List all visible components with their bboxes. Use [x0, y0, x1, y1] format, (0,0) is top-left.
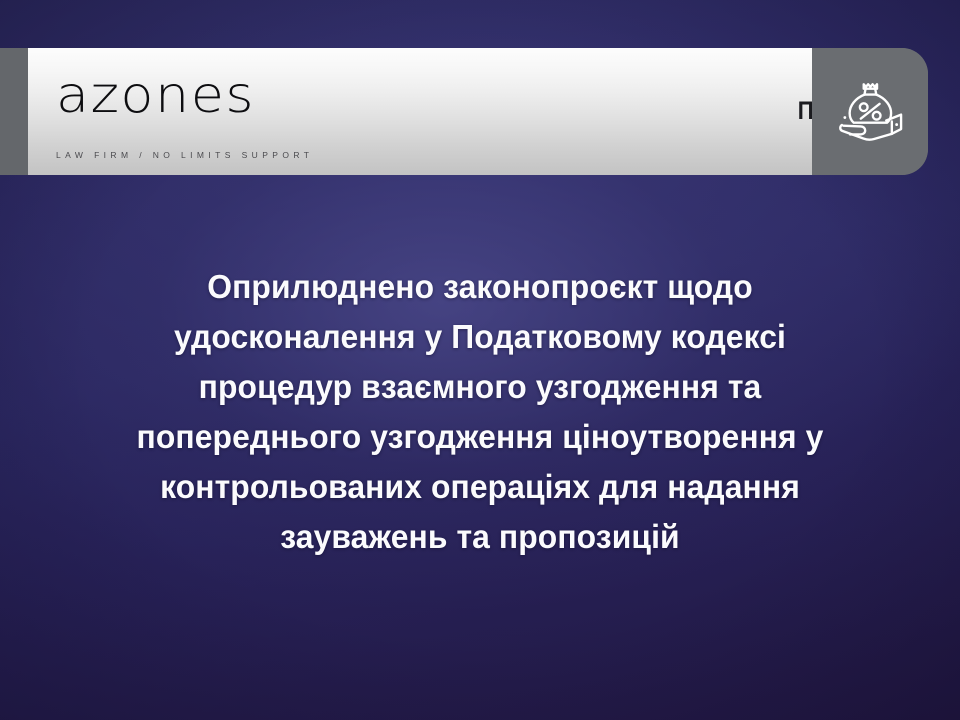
- page-title: Оприлюднено законопроєкт щодо удосконале…: [69, 262, 891, 562]
- headline-line: удосконалення у Податковому кодексі: [69, 312, 891, 362]
- headline-line: Оприлюднено законопроєкт щодо: [69, 262, 891, 312]
- money-bag-in-hand-percent-icon: [833, 75, 907, 149]
- header-icon-zone: [812, 48, 928, 175]
- header-category-area: ПОДАТКИ: [144, 48, 928, 175]
- slide-canvas: azones LAW FIRM / NO LIMITS SUPPORT ПОДА…: [0, 0, 960, 720]
- header-band: azones LAW FIRM / NO LIMITS SUPPORT ПОДА…: [0, 48, 928, 175]
- headline-line: зауважень та пропозицій: [69, 512, 891, 562]
- headline-line: процедур взаємного узгодження та: [69, 362, 891, 412]
- headline-line: попереднього узгодження ціноутворення у: [69, 412, 891, 462]
- headline-container: Оприлюднено законопроєкт щодо удосконале…: [0, 262, 960, 562]
- headline-line: контрольованих операціях для надання: [69, 462, 891, 512]
- header-left-accent-strip: [0, 48, 28, 175]
